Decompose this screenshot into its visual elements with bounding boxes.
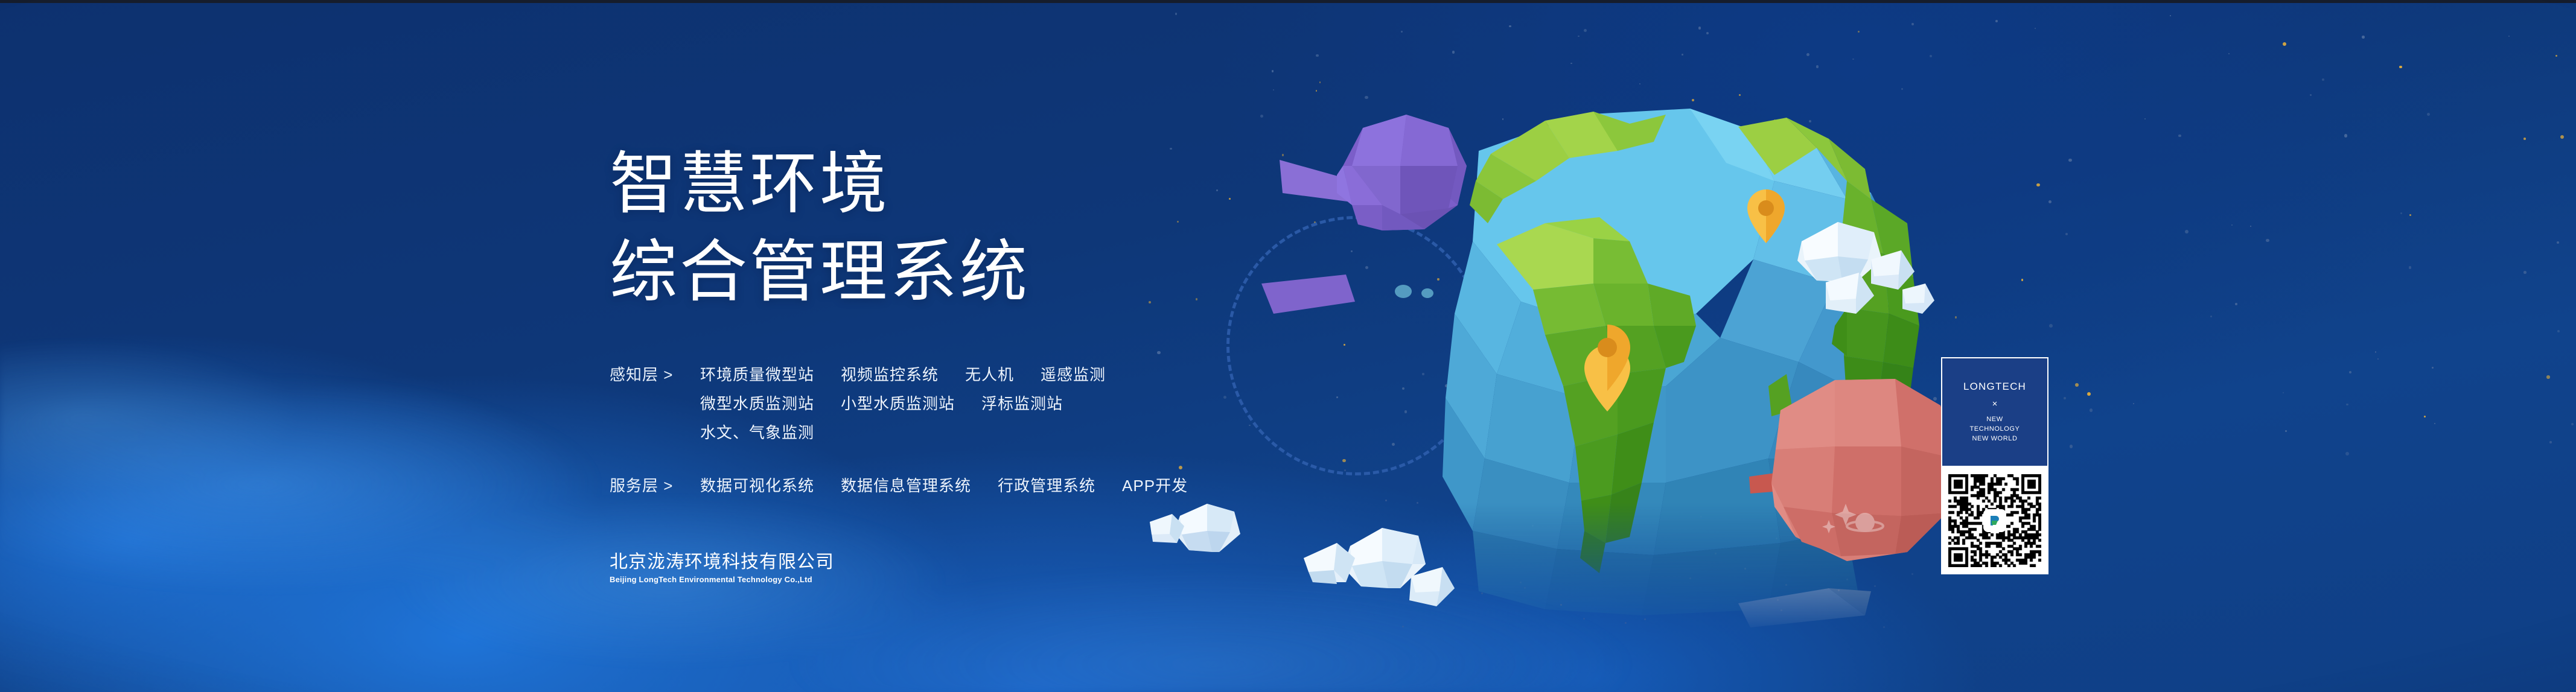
star-dot (1316, 54, 1319, 57)
layer-item[interactable]: APP开发 (1122, 473, 1188, 498)
star-dot (1878, 270, 1879, 271)
star-dot (2235, 303, 2237, 305)
layer-row: 感知层 >环境质量微型站视频监控系统无人机遥感监测微型水质监测站小型水质监测站浮… (610, 362, 1455, 445)
star-dot (2427, 113, 2430, 116)
star-dot (1751, 273, 1753, 275)
star-dot (1819, 187, 1822, 190)
star-dot (1739, 94, 1741, 96)
star-dot (2557, 330, 2560, 332)
layer-subrow: 水文、气象监测 (700, 420, 1455, 445)
star-dot (2064, 397, 2066, 399)
layer-item[interactable]: 数据可视化系统 (700, 473, 814, 498)
layer-row: 服务层 >数据可视化系统数据信息管理系统行政管理系统APP开发 (610, 473, 1455, 498)
star-dot (1481, 592, 1483, 594)
star-dot (2075, 383, 2079, 387)
qr-separator-icon: × (1992, 399, 1998, 408)
star-dot (1777, 482, 1779, 484)
star-dot (1319, 81, 1321, 83)
star-dot (1509, 25, 1511, 27)
layer-label: 感知层 > (610, 362, 700, 387)
star-dot (2557, 241, 2559, 244)
page-title-line1: 智慧环境 (610, 140, 1394, 228)
layer-item[interactable]: 环境质量微型站 (700, 362, 814, 387)
star-dot (1695, 459, 1697, 461)
star-dot (1551, 356, 1552, 357)
star-dot (2523, 138, 2526, 140)
star-dot (1706, 32, 1709, 34)
layer-item[interactable]: 微型水质监测站 (700, 391, 814, 416)
layer-label: 服务层 > (610, 473, 700, 498)
qr-tagline-line1: NEW (1969, 415, 2020, 425)
banner-stage: 智慧环境 综合管理系统 感知层 >环境质量微型站视频监控系统无人机遥感监测微型水… (0, 0, 2576, 692)
star-dot (2546, 375, 2550, 379)
star-dot (2087, 392, 2091, 396)
company-name-en: Beijing LongTech Environmental Technolog… (610, 575, 834, 584)
star-dot (1774, 119, 1776, 121)
layer-item[interactable]: 遥感监测 (1041, 362, 1106, 387)
qr-brand-label: LONGTECH (1963, 381, 2026, 392)
star-dot (1823, 247, 1826, 250)
star-dot (1737, 469, 1739, 471)
star-dot (1700, 516, 1702, 518)
star-dot (1744, 568, 1746, 570)
star-dot (1608, 497, 1610, 498)
headline-block: 智慧环境 综合管理系统 (610, 140, 1394, 316)
star-dot (2035, 28, 2036, 29)
star-dot (2178, 135, 2181, 138)
star-dot (1662, 311, 1666, 314)
star-dot (1773, 185, 1774, 186)
star-dot (2409, 266, 2411, 268)
qr-tagline-line2: TECHNOLOGY (1969, 425, 2020, 434)
star-dot (1592, 135, 1595, 138)
star-dot (1911, 23, 1914, 25)
star-dot (2362, 36, 2364, 38)
layer-subrow: 数据可视化系统数据信息管理系统行政管理系统APP开发 (700, 473, 1455, 498)
qr-code-panel[interactable] (1941, 467, 2048, 574)
qr-center-logo-icon (1985, 510, 2005, 531)
star-dot (2344, 134, 2348, 138)
layer-item[interactable]: 浮标监测站 (981, 391, 1063, 416)
star-dot (1605, 176, 1607, 179)
star-dot (1417, 502, 1418, 504)
star-dot (2549, 441, 2551, 443)
qr-tagline: NEW TECHNOLOGY NEW WORLD (1969, 415, 2020, 444)
star-dot (2266, 239, 2269, 242)
star-dot (1910, 391, 1913, 395)
star-dot (1365, 96, 1368, 99)
star-dot (1560, 604, 1562, 606)
star-dot (1915, 487, 1917, 489)
star-dot (1681, 499, 1683, 501)
star-dot (1995, 20, 1998, 22)
star-dot (1682, 54, 1683, 56)
star-dot (1260, 115, 1263, 118)
qr-tagline-line3: NEW WORLD (1969, 434, 2020, 444)
star-dot (1785, 584, 1787, 586)
star-dot (1157, 351, 1160, 354)
star-dot (1604, 424, 1606, 425)
star-dot (1762, 389, 1765, 391)
star-dot (1896, 397, 1897, 398)
star-dot (1385, 500, 1387, 501)
star-dot (1175, 13, 1178, 15)
star-dot (2349, 371, 2351, 373)
star-dot (2508, 36, 2510, 37)
layer-item[interactable]: 数据信息管理系统 (841, 473, 971, 498)
company-name-cn: 北京泷涛环境科技有限公司 (610, 551, 834, 574)
layer-item-groups: 环境质量微型站视频监控系统无人机遥感监测微型水质监测站小型水质监测站浮标监测站水… (700, 362, 1455, 445)
star-dot (2049, 324, 2053, 328)
qr-card-header: LONGTECH × NEW TECHNOLOGY NEW WORLD (1941, 357, 2048, 467)
star-dot (2283, 42, 2286, 46)
star-dot (2021, 279, 2024, 281)
star-dot (2375, 351, 2377, 353)
star-dot (1746, 463, 1749, 466)
page-title-line2: 综合管理系统 (610, 228, 1394, 316)
star-dot (1698, 27, 1701, 30)
layer-item-groups: 数据可视化系统数据信息管理系统行政管理系统APP开发 (700, 473, 1455, 498)
star-dot (1529, 156, 1532, 159)
star-dot (1512, 188, 1515, 191)
qr-card[interactable]: LONGTECH × NEW TECHNOLOGY NEW WORLD (1941, 357, 2048, 574)
star-dot (1639, 214, 1642, 217)
layer-item[interactable]: 行政管理系统 (998, 473, 1095, 498)
layer-item[interactable]: 小型水质监测站 (841, 391, 955, 416)
star-dot (1626, 193, 1630, 197)
star-dot (1444, 570, 1446, 571)
layer-subrow: 环境质量微型站视频监控系统无人机遥感监测 (700, 362, 1455, 387)
top-edge-bar (0, 0, 2576, 3)
layer-item[interactable]: 水文、气象监测 (700, 420, 814, 445)
star-dot (1734, 153, 1736, 155)
star-dot (2409, 214, 2411, 216)
star-dot (1570, 63, 1572, 65)
star-dot (1874, 585, 1876, 587)
star-dot (2424, 416, 2426, 417)
star-dot (2345, 452, 2349, 456)
star-dot (1610, 447, 1611, 448)
layer-item[interactable]: 无人机 (965, 362, 1014, 387)
star-dot (2523, 271, 2526, 273)
star-dot (1781, 609, 1782, 611)
star-dot (2090, 408, 2093, 412)
star-dot (1522, 285, 1523, 286)
layer-subrow: 微型水质监测站小型水质监测站浮标监测站 (700, 391, 1455, 416)
star-dot (2322, 78, 2324, 81)
star-dot (1910, 489, 1912, 490)
qr-code-image[interactable] (1948, 474, 2041, 567)
capability-layers: 感知层 >环境质量微型站视频监控系统无人机遥感监测微型水质监测站小型水质监测站浮… (610, 362, 1455, 498)
star-dot (2070, 445, 2073, 448)
company-signature: 北京泷涛环境科技有限公司 Beijing LongTech Environmen… (610, 551, 834, 584)
star-dot (1677, 148, 1679, 151)
star-dot (1816, 65, 1819, 68)
star-dot (2571, 423, 2574, 425)
star-dot (2210, 316, 2212, 317)
layer-item[interactable]: 视频监控系统 (841, 362, 939, 387)
star-dot (1752, 395, 1755, 397)
